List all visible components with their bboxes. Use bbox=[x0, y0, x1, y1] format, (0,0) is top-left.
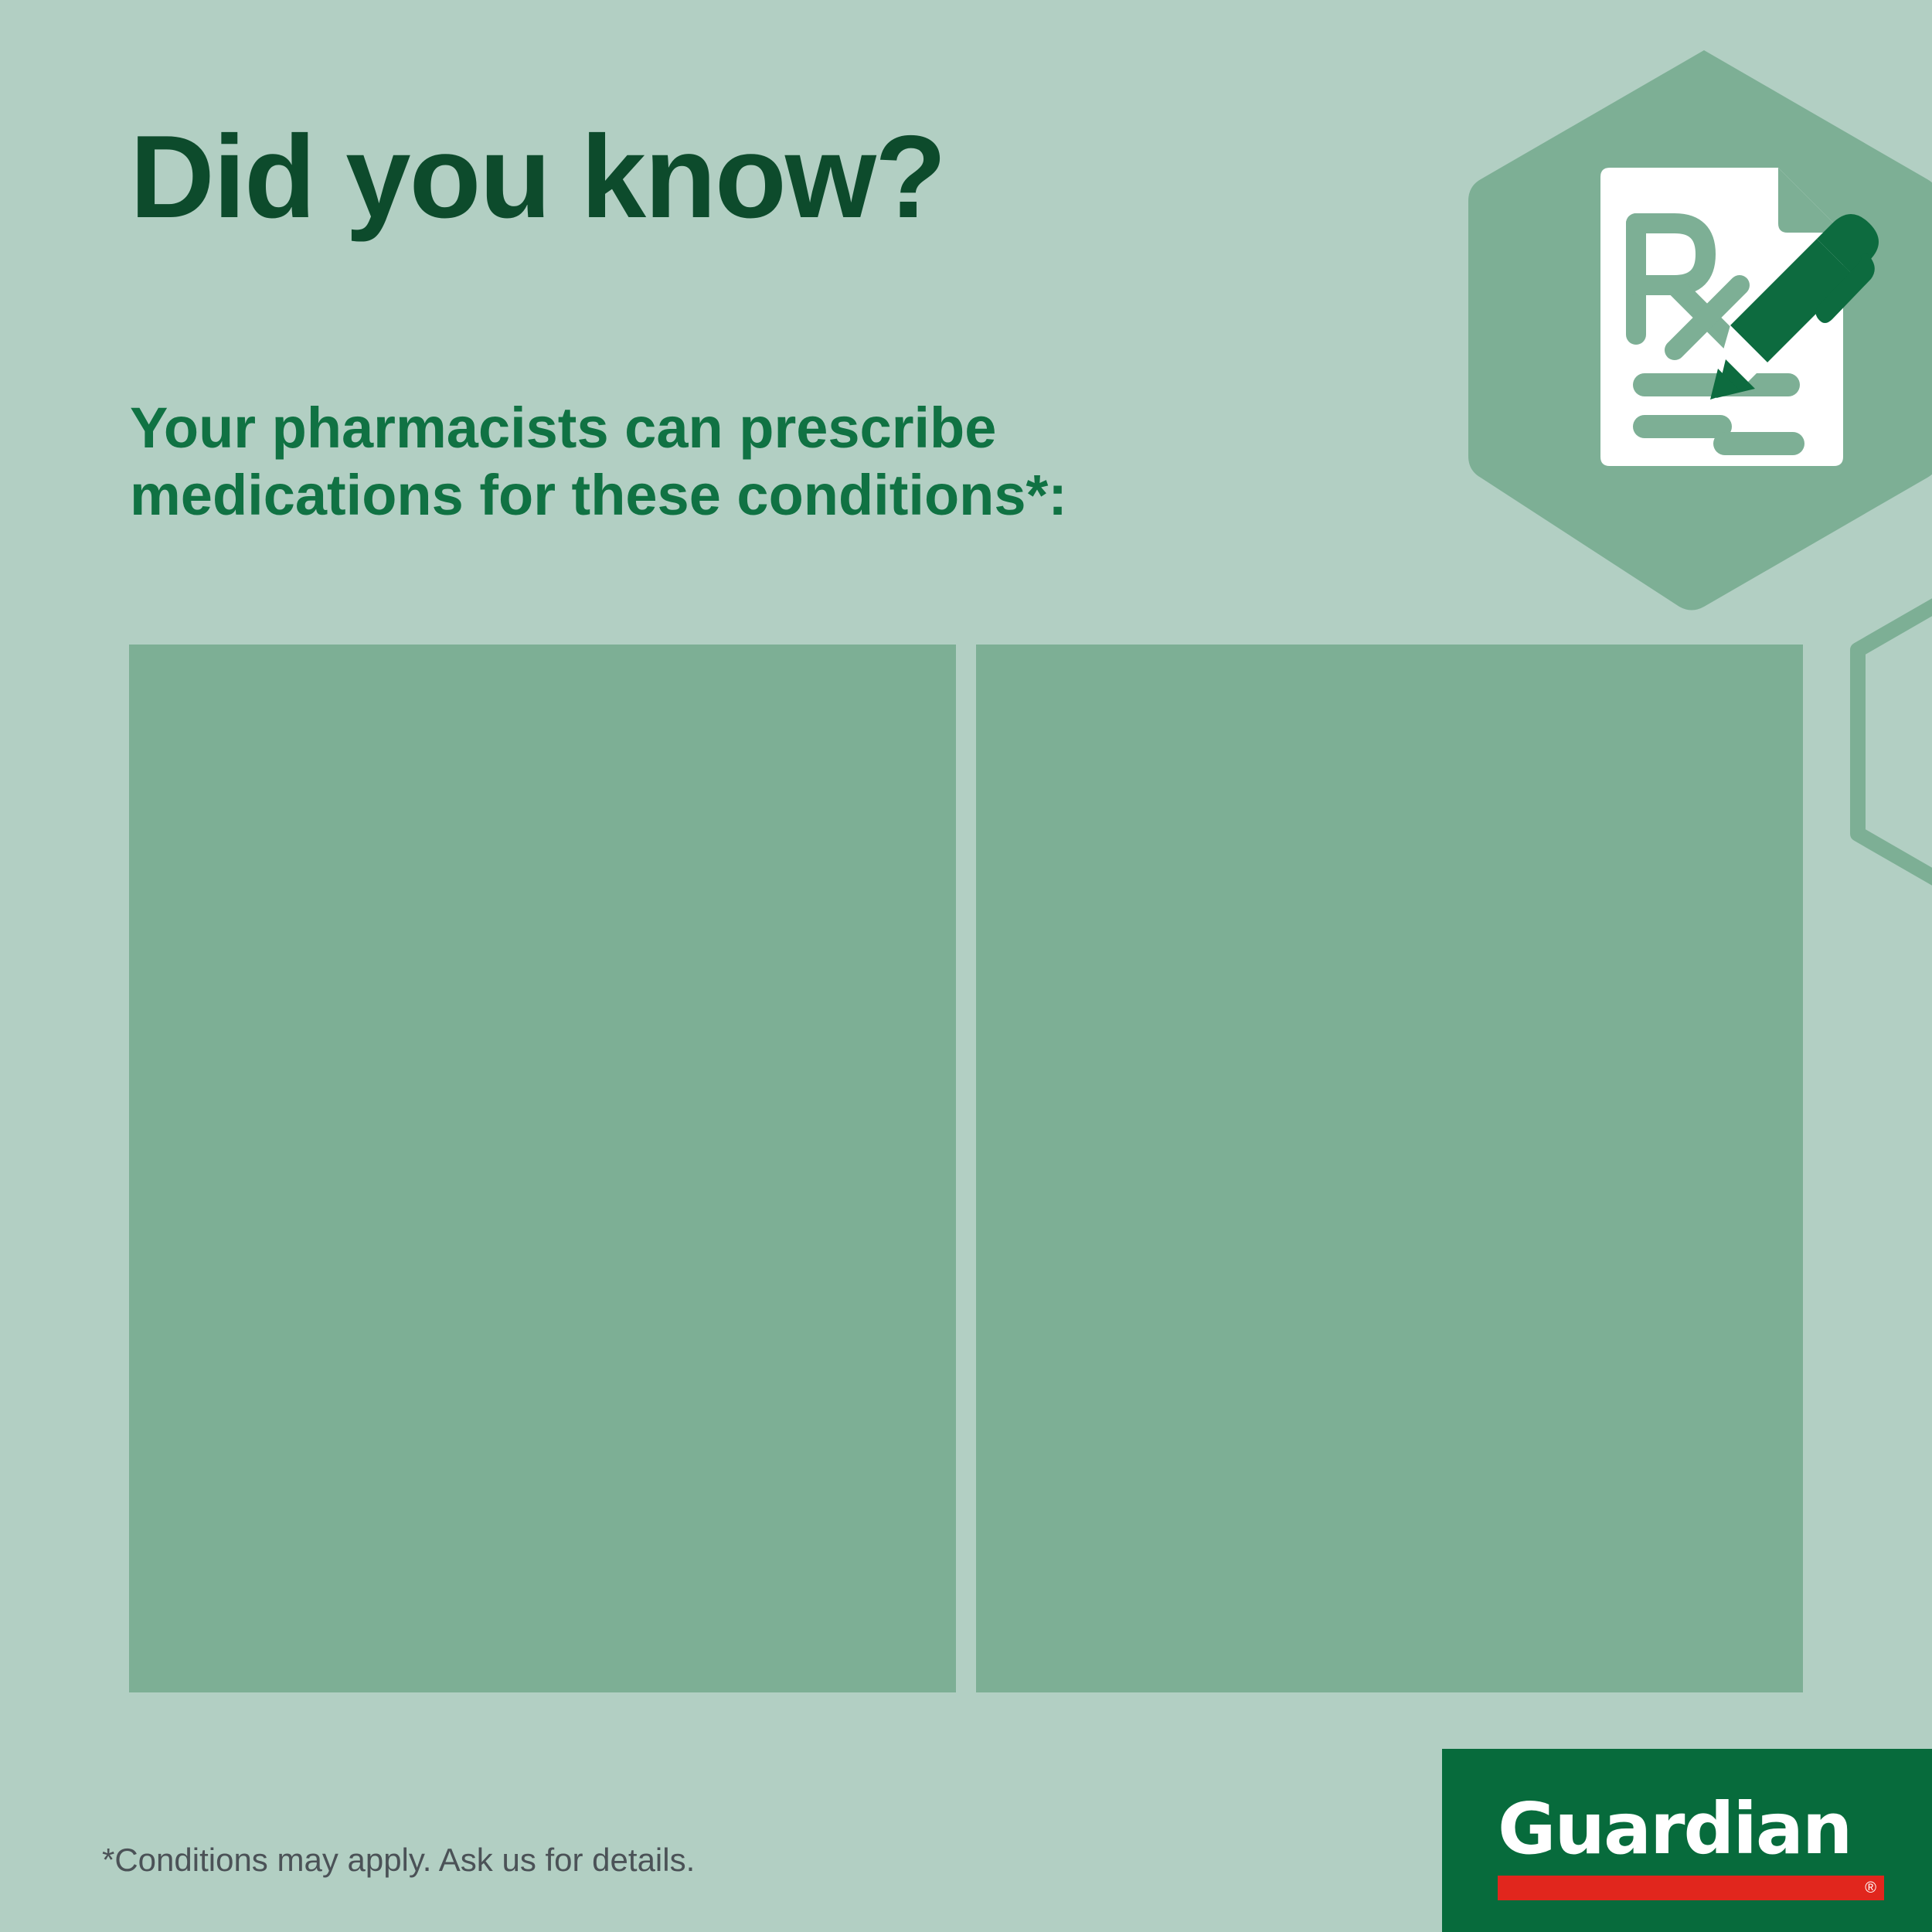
conditions-panel-right bbox=[976, 645, 1803, 1692]
subtitle-line-1: Your pharmacists can prescribe bbox=[130, 394, 1067, 461]
page-title: Did you know? bbox=[130, 116, 945, 240]
rx-prescription-document-icon bbox=[1588, 166, 1889, 475]
conditions-panel-left bbox=[129, 645, 956, 1692]
conditions-panels bbox=[129, 645, 1803, 1692]
subtitle-line-2: medications for these conditions*: bbox=[130, 461, 1067, 529]
guardian-logo-inner: Guardian ® bbox=[1498, 1794, 1884, 1900]
guardian-red-rule: ® bbox=[1498, 1876, 1884, 1900]
guardian-logo: Guardian ® bbox=[1442, 1749, 1932, 1932]
registered-trademark-icon: ® bbox=[1865, 1880, 1876, 1896]
poster-canvas: Did you know? Your pharmacists can presc… bbox=[0, 0, 1932, 1932]
footnote-disclaimer: *Conditions may apply. Ask us for detail… bbox=[102, 1841, 695, 1879]
guardian-wordmark: Guardian bbox=[1498, 1794, 1884, 1865]
page-subtitle: Your pharmacists can prescribe medicatio… bbox=[130, 394, 1067, 529]
